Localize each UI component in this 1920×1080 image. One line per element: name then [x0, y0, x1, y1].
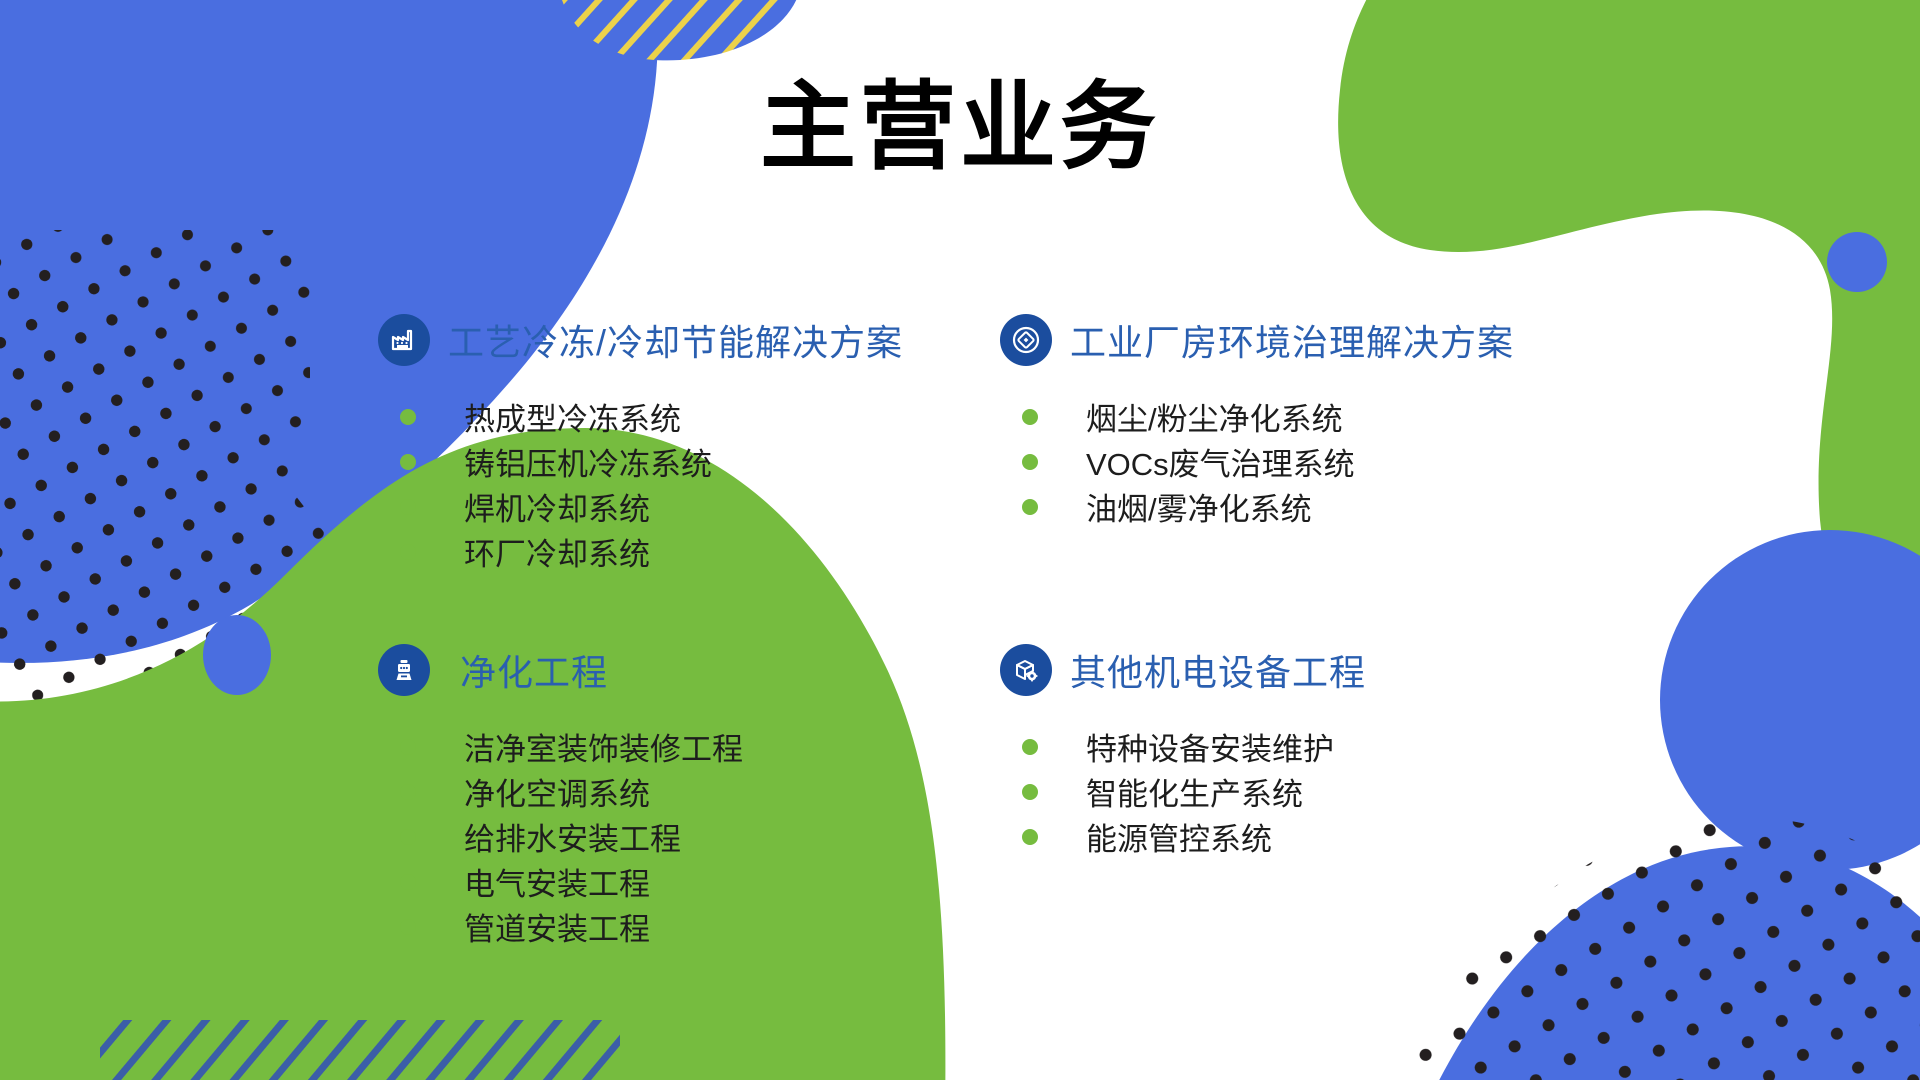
- list-item-label: 环厂冷却系统: [464, 529, 650, 574]
- list-item: 焊机冷却系统: [378, 484, 903, 529]
- bullet-list: 热成型冷冻系统 铸铝压机冷冻系统 焊机冷却系统 环厂冷却系统: [378, 394, 903, 574]
- list-item-label: 管道安装工程: [464, 904, 650, 949]
- section-title: 净化工程: [460, 644, 608, 696]
- bullet-dot-icon: [400, 544, 416, 560]
- section-purification-engineering: 净化工程 洁净室装饰装修工程 净化空调系统 给排水安装工程 电气安装工程: [378, 642, 743, 949]
- list-item-label: 净化空调系统: [464, 769, 650, 814]
- list-item: 烟尘/粉尘净化系统: [1000, 394, 1514, 439]
- section-header: 其他机电设备工程: [1000, 642, 1366, 698]
- list-item: 智能化生产系统: [1000, 769, 1366, 814]
- bullet-dot-icon: [1022, 409, 1038, 425]
- list-item: 环厂冷却系统: [378, 529, 903, 574]
- bullet-dot-icon: [400, 874, 416, 890]
- bullet-dot-icon: [400, 409, 416, 425]
- section-header: 工业厂房环境治理解决方案: [1000, 312, 1514, 368]
- list-item: 特种设备安装维护: [1000, 724, 1366, 769]
- section-header: 工艺冷冻/冷却节能解决方案: [378, 312, 903, 368]
- list-item-label: VOCs废气治理系统: [1086, 439, 1355, 484]
- list-item: VOCs废气治理系统: [1000, 439, 1514, 484]
- list-item-label: 烟尘/粉尘净化系统: [1086, 394, 1343, 439]
- bullet-dot-icon: [1022, 499, 1038, 515]
- bullet-dot-icon: [400, 499, 416, 515]
- bullet-dot-icon: [1022, 454, 1038, 470]
- list-item-label: 铸铝压机冷冻系统: [464, 439, 712, 484]
- environment-badge-icon: [1000, 314, 1052, 366]
- section-factory-environment: 工业厂房环境治理解决方案 烟尘/粉尘净化系统 VOCs废气治理系统 油烟/雾净化…: [1000, 312, 1514, 529]
- slide-canvas: 主营业务 工艺冷冻/冷却节能解决方案 热成型冷冻系: [0, 0, 1920, 1080]
- bullet-dot-icon: [400, 454, 416, 470]
- section-title: 工业厂房环境治理解决方案: [1070, 314, 1514, 366]
- bullet-dot-icon: [400, 739, 416, 755]
- list-item: 电气安装工程: [378, 859, 743, 904]
- box-gear-icon: [1000, 644, 1052, 696]
- factory-icon: [378, 314, 430, 366]
- bullet-dot-icon: [400, 919, 416, 935]
- list-item-label: 电气安装工程: [464, 859, 650, 904]
- list-item-label: 焊机冷却系统: [464, 484, 650, 529]
- list-item: 油烟/雾净化系统: [1000, 484, 1514, 529]
- list-item: 给排水安装工程: [378, 814, 743, 859]
- section-other-electromechanical: 其他机电设备工程 特种设备安装维护 智能化生产系统 能源管控系统: [1000, 642, 1366, 859]
- bullet-dot-icon: [1022, 739, 1038, 755]
- section-header: 净化工程: [378, 642, 743, 698]
- list-item: 热成型冷冻系统: [378, 394, 903, 439]
- list-item-label: 洁净室装饰装修工程: [464, 724, 743, 769]
- bullet-list: 洁净室装饰装修工程 净化空调系统 给排水安装工程 电气安装工程 管道安装工程: [378, 724, 743, 949]
- section-title: 工艺冷冻/冷却节能解决方案: [448, 314, 903, 366]
- section-process-cooling: 工艺冷冻/冷却节能解决方案 热成型冷冻系统 铸铝压机冷冻系统 焊机冷却系统 环: [378, 312, 903, 574]
- page-title: 主营业务: [0, 78, 1920, 179]
- list-item-label: 智能化生产系统: [1086, 769, 1303, 814]
- bullet-dot-icon: [1022, 784, 1038, 800]
- air-purifier-icon: [378, 644, 430, 696]
- bullet-dot-icon: [1022, 829, 1038, 845]
- list-item-label: 给排水安装工程: [464, 814, 681, 859]
- list-item: 能源管控系统: [1000, 814, 1366, 859]
- bullet-dot-icon: [400, 784, 416, 800]
- list-item: 洁净室装饰装修工程: [378, 724, 743, 769]
- list-item-label: 特种设备安装维护: [1086, 724, 1334, 769]
- bullet-list: 烟尘/粉尘净化系统 VOCs废气治理系统 油烟/雾净化系统: [1000, 394, 1514, 529]
- bullet-list: 特种设备安装维护 智能化生产系统 能源管控系统: [1000, 724, 1366, 859]
- bullet-dot-icon: [400, 829, 416, 845]
- list-item: 管道安装工程: [378, 904, 743, 949]
- list-item-label: 能源管控系统: [1086, 814, 1272, 859]
- list-item: 铸铝压机冷冻系统: [378, 439, 903, 484]
- list-item-label: 热成型冷冻系统: [464, 394, 681, 439]
- list-item-label: 油烟/雾净化系统: [1086, 484, 1312, 529]
- section-title: 其他机电设备工程: [1070, 644, 1366, 696]
- list-item: 净化空调系统: [378, 769, 743, 814]
